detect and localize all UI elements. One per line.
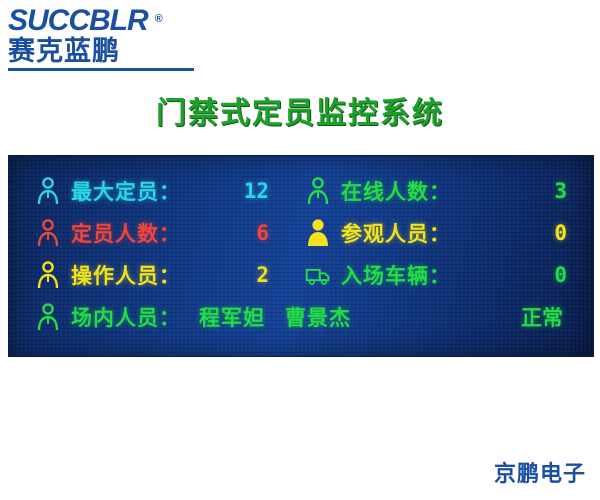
logo-underline-divider	[8, 68, 194, 71]
max-capacity-label: 最大定员：	[71, 176, 181, 206]
operator-count-label: 操作人员：	[71, 260, 181, 290]
assigned-count-value: 6	[256, 221, 269, 245]
max-capacity-cell: 最大定员： 12	[9, 176, 299, 206]
onsite-person-name-1: 程军妲	[199, 302, 265, 332]
logo-chinese-label: 赛克蓝鹏	[8, 37, 218, 67]
table-row: 定员人数： 6 参观人员： 0	[9, 212, 593, 254]
registered-trademark-icon: ®	[155, 4, 162, 34]
vehicle-count-label: 入场车辆：	[341, 260, 451, 290]
person-red-icon	[35, 219, 61, 247]
company-logo: SUCCBLR ® 赛克蓝鹏	[8, 6, 218, 68]
max-capacity-value: 12	[244, 179, 269, 203]
table-row: 最大定员： 12 在线人数： 3	[9, 170, 593, 212]
person-cyan-icon	[35, 177, 61, 205]
onsite-person-name-2: 曹景杰	[285, 302, 351, 332]
assigned-count-cell: 定员人数： 6	[9, 218, 299, 248]
onsite-personnel-cell: 场内人员： 程军妲 曹景杰 正常	[9, 302, 593, 332]
online-count-label: 在线人数：	[341, 176, 451, 206]
table-row: 操作人员： 2 入场车辆： 0	[9, 254, 593, 296]
person-yellow-icon	[305, 219, 331, 247]
footer-brand-label: 京鹏电子	[494, 456, 586, 488]
visitor-count-value: 0	[554, 221, 567, 245]
status-badge: 正常	[521, 302, 563, 332]
assigned-count-label: 定员人数：	[71, 218, 181, 248]
person-green-icon	[305, 177, 331, 205]
person-yellow-icon	[35, 261, 61, 289]
page-title: 门禁式定员监控系统	[0, 88, 600, 132]
operator-count-cell: 操作人员： 2	[9, 260, 299, 290]
led-rows-container: 最大定员： 12 在线人数： 3 定员人数：	[9, 170, 593, 338]
visitor-count-cell: 参观人员： 0	[299, 218, 593, 248]
logo-latin-label: SUCCBLR	[8, 4, 148, 37]
person-green-icon	[35, 303, 61, 331]
online-count-value: 3	[554, 179, 567, 203]
visitor-count-label: 参观人员：	[341, 218, 451, 248]
online-count-cell: 在线人数： 3	[299, 176, 593, 206]
onsite-personnel-row: 场内人员： 程军妲 曹景杰 正常	[9, 296, 593, 338]
logo-latin-text: SUCCBLR ®	[8, 6, 148, 36]
operator-count-value: 2	[256, 263, 269, 287]
truck-green-icon	[305, 261, 331, 289]
vehicle-count-cell: 入场车辆： 0	[299, 260, 593, 290]
onsite-personnel-label: 场内人员：	[71, 302, 181, 332]
vehicle-count-value: 0	[554, 263, 567, 287]
led-display-panel: 最大定员： 12 在线人数： 3 定员人数：	[8, 155, 594, 357]
